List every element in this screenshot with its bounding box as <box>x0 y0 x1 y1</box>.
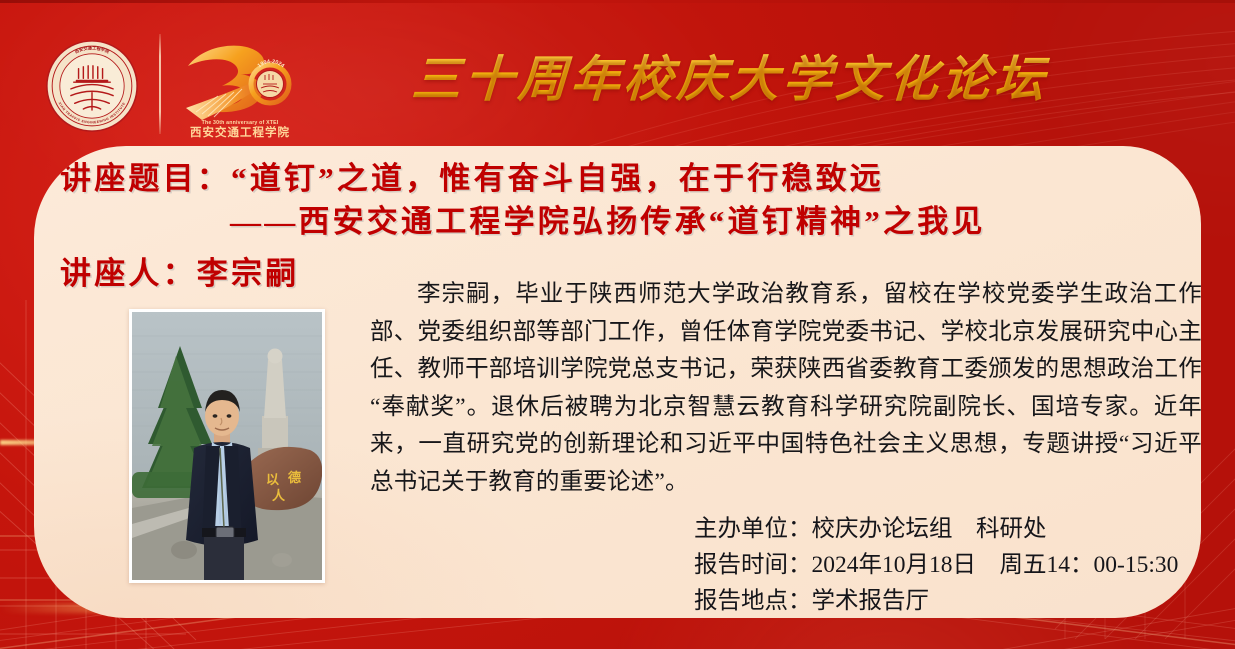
info-place: 报告地点：学术报告厅 <box>694 583 1194 618</box>
lecture-headline-block: 讲座题目：“道钉”之道，惟有奋斗自强，在于行稳致远 ——西安交通工程学院弘扬传承… <box>60 158 1190 295</box>
speaker-biography: 李宗嗣，毕业于陕西师范大学政治教育系，留校在学校党委学生政治工作部、党委组织部等… <box>370 276 1201 501</box>
poster-header: 西安交通工程学院 XIAN TRAFFIC ENGINEERING INSTIT… <box>0 0 1235 146</box>
school-seal-logo-icon: 西安交通工程学院 XIAN TRAFFIC ENGINEERING INSTIT… <box>44 38 140 134</box>
poster-main-title: 三十周年校庆大学文化论坛 <box>358 40 1102 111</box>
anniversary-30-logo-icon: 1994-2024 The 30th anniversary of XTEI 西… <box>172 32 308 140</box>
svg-text:德: 德 <box>288 470 301 485</box>
svg-text:The 30th anniversary of XTEI: The 30th anniversary of XTEI <box>202 120 279 126</box>
info-organizer: 主办单位：校庆办论坛组 科研处 <box>694 511 1194 547</box>
speaker-photo-illustration-icon: 以德人 <box>132 312 322 580</box>
event-info-block: 主办单位：校庆办论坛组 科研处 报告时间：2024年10月18日 周五14：00… <box>694 511 1194 618</box>
speaker-photo: 以德人 <box>132 312 322 580</box>
svg-text:以: 以 <box>266 472 279 487</box>
speaker-photo-frame: 以德人 <box>129 309 325 583</box>
lecture-title-line1: 讲座题目：“道钉”之道，惟有奋斗自强，在于行稳致远 <box>60 158 1190 201</box>
lecture-title-line2: ——西安交通工程学院弘扬传承“道钉精神”之我见 <box>60 201 1190 244</box>
info-time: 报告时间：2024年10月18日 周五14：00-15:30 <box>694 547 1194 583</box>
logo-divider <box>159 34 161 134</box>
svg-text:人: 人 <box>272 488 286 503</box>
svg-text:西安交通工程学院: 西安交通工程学院 <box>190 125 290 139</box>
content-panel: 讲座题目：“道钉”之道，惟有奋斗自强，在于行稳致远 ——西安交通工程学院弘扬传承… <box>34 146 1201 618</box>
poster-canvas: 西安交通工程学院 XIAN TRAFFIC ENGINEERING INSTIT… <box>0 0 1235 649</box>
